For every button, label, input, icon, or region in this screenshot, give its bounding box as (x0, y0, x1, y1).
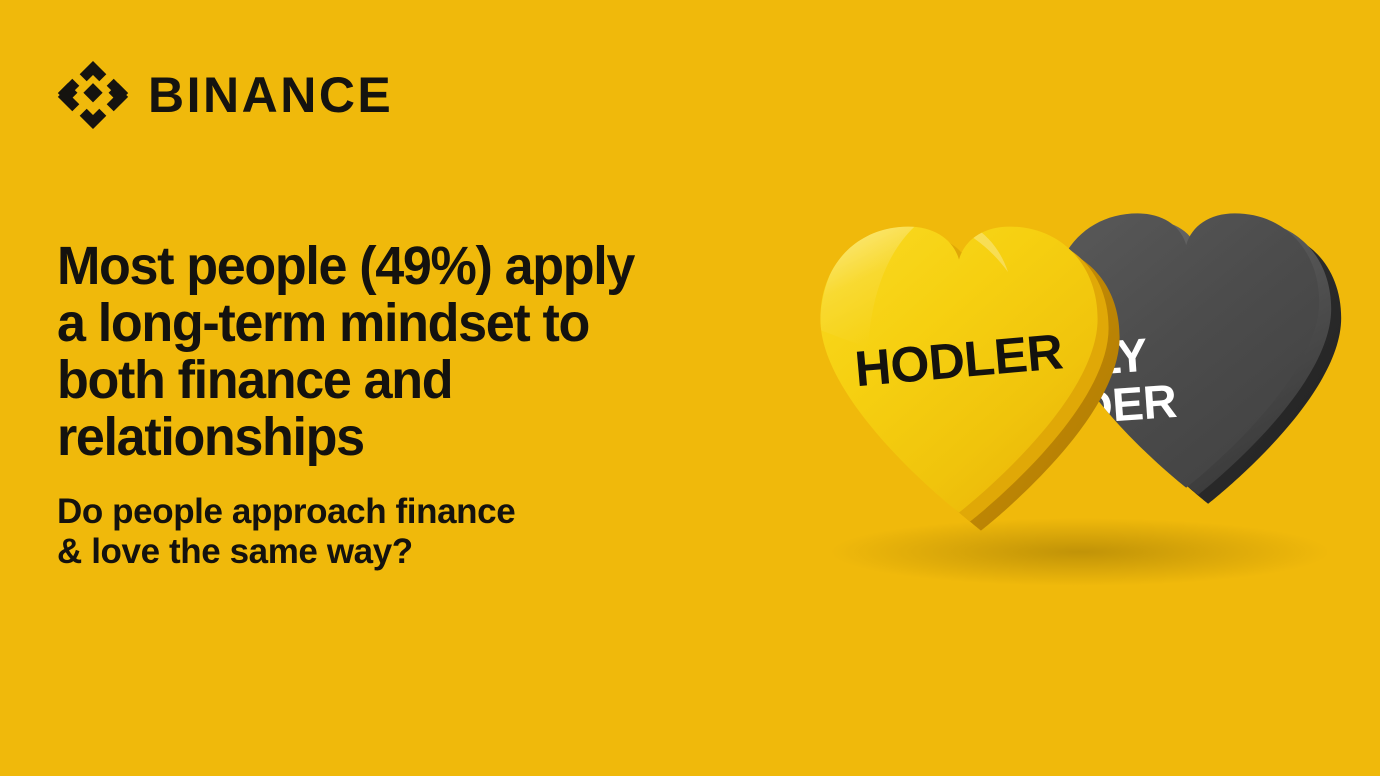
slide-canvas: BINANCE Most people (49%) apply a long-t… (0, 0, 1380, 776)
binance-diamond-logo-icon (56, 58, 130, 132)
headline: Most people (49%) apply a long-term mind… (57, 238, 733, 466)
hearts-illustration: LY DER (760, 180, 1380, 590)
copy-block: Most people (49%) apply a long-term mind… (57, 238, 757, 572)
brand-lockup: BINANCE (56, 58, 393, 132)
subheadline: Do people approach finance & love the sa… (57, 492, 757, 573)
hodler-heart: HODLER (820, 214, 1120, 531)
brand-name: BINANCE (148, 70, 393, 120)
artwork-shadow (830, 518, 1330, 586)
